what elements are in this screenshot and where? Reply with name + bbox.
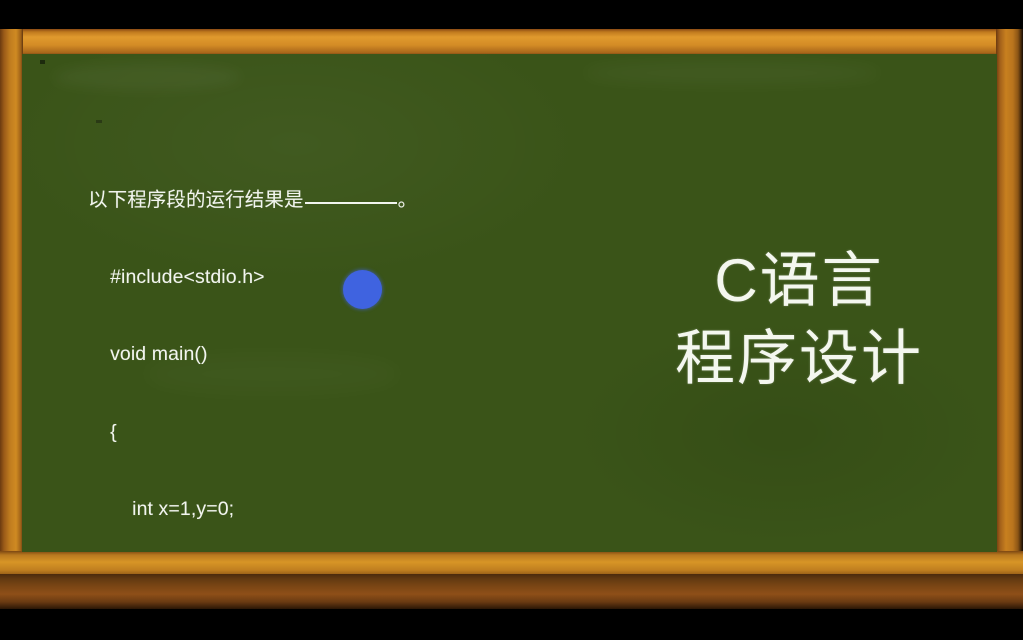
blackboard-frame-top — [0, 29, 1023, 55]
letterbox-top-bar — [0, 0, 1023, 30]
code-listing: 以下程序段的运行结果是。 #include<stdio.h> void main… — [88, 136, 430, 552]
slide-screen: 以下程序段的运行结果是。 #include<stdio.h> void main… — [0, 0, 1023, 640]
course-title: C语言 程序设计 — [634, 242, 964, 398]
laser-pointer-dot[interactable] — [343, 270, 382, 309]
letterbox-bottom-bar — [0, 607, 1023, 640]
course-title-line-2: 程序设计 — [634, 320, 964, 398]
question-prompt-text: 以下程序段的运行结果是 — [88, 189, 304, 211]
course-title-line-1: C语言 — [634, 242, 964, 320]
code-line: int x=1,y=0; — [88, 497, 430, 523]
board-speck — [40, 60, 45, 64]
blackboard-frame-right — [996, 29, 1023, 575]
blackboard-chalk-ledge — [0, 574, 1023, 609]
board-speck — [96, 120, 102, 123]
answer-blank — [305, 202, 397, 204]
code-line: void main() — [88, 342, 430, 368]
chalk-smudge — [582, 62, 882, 84]
blackboard-frame-left — [0, 29, 23, 575]
question-suffix-text: 。 — [398, 189, 418, 211]
chalk-smudge — [52, 64, 242, 90]
code-line: { — [88, 420, 430, 446]
blackboard-frame-bottom — [0, 551, 1023, 576]
chalkboard-surface: 以下程序段的运行结果是。 #include<stdio.h> void main… — [22, 54, 997, 552]
question-prompt-line: 以下程序段的运行结果是。 — [88, 188, 430, 214]
